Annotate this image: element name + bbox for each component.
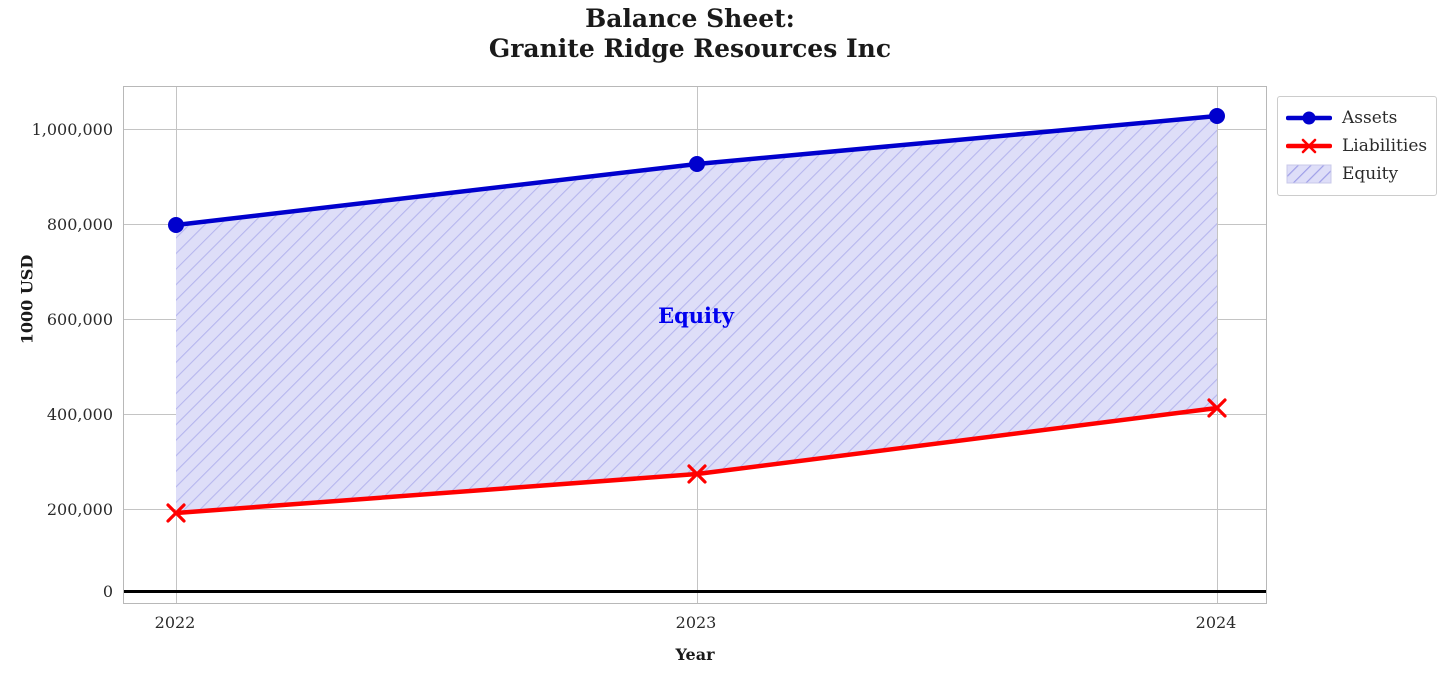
legend-label-assets: Assets	[1342, 108, 1397, 128]
x-tick-label-2023: 2023	[626, 613, 766, 632]
legend-label-liabilities: Liabilities	[1342, 136, 1427, 156]
chart-figure: Balance Sheet: Granite Ridge Resources I…	[0, 0, 1454, 676]
y-tick-label-400000: 400,000	[0, 405, 113, 424]
equity-area-swatch-icon	[1286, 164, 1332, 184]
assets-point-2022	[168, 217, 184, 233]
y-tick-label-200000: 200,000	[0, 500, 113, 519]
x-tick-label-2024: 2024	[1146, 613, 1286, 632]
legend-item-liabilities[interactable]: Liabilities	[1286, 132, 1427, 160]
assets-line-swatch-icon	[1286, 108, 1332, 128]
y-tick-label-0: 0	[0, 582, 113, 601]
liabilities-line-swatch-icon	[1286, 136, 1332, 156]
chart-series-layer	[124, 87, 1267, 604]
x-tick-label-2022: 2022	[105, 613, 245, 632]
legend-label-equity: Equity	[1342, 164, 1398, 184]
x-axis-label: Year	[123, 645, 1267, 664]
chart-legend: Assets Liabilities	[1277, 96, 1437, 196]
y-tick-label-600000: 600,000	[0, 310, 113, 329]
assets-point-2024	[1209, 108, 1225, 124]
plot-area	[123, 86, 1267, 604]
y-axis-label: 1000 USD	[18, 220, 37, 380]
equity-annotation: Equity	[596, 303, 796, 328]
y-tick-label-1000000: 1,000,000	[0, 120, 113, 139]
legend-item-assets[interactable]: Assets	[1286, 104, 1427, 132]
y-tick-label-800000: 800,000	[0, 215, 113, 234]
chart-title: Balance Sheet: Granite Ridge Resources I…	[0, 4, 1380, 64]
assets-point-2023	[689, 156, 705, 172]
legend-item-equity[interactable]: Equity	[1286, 160, 1427, 188]
